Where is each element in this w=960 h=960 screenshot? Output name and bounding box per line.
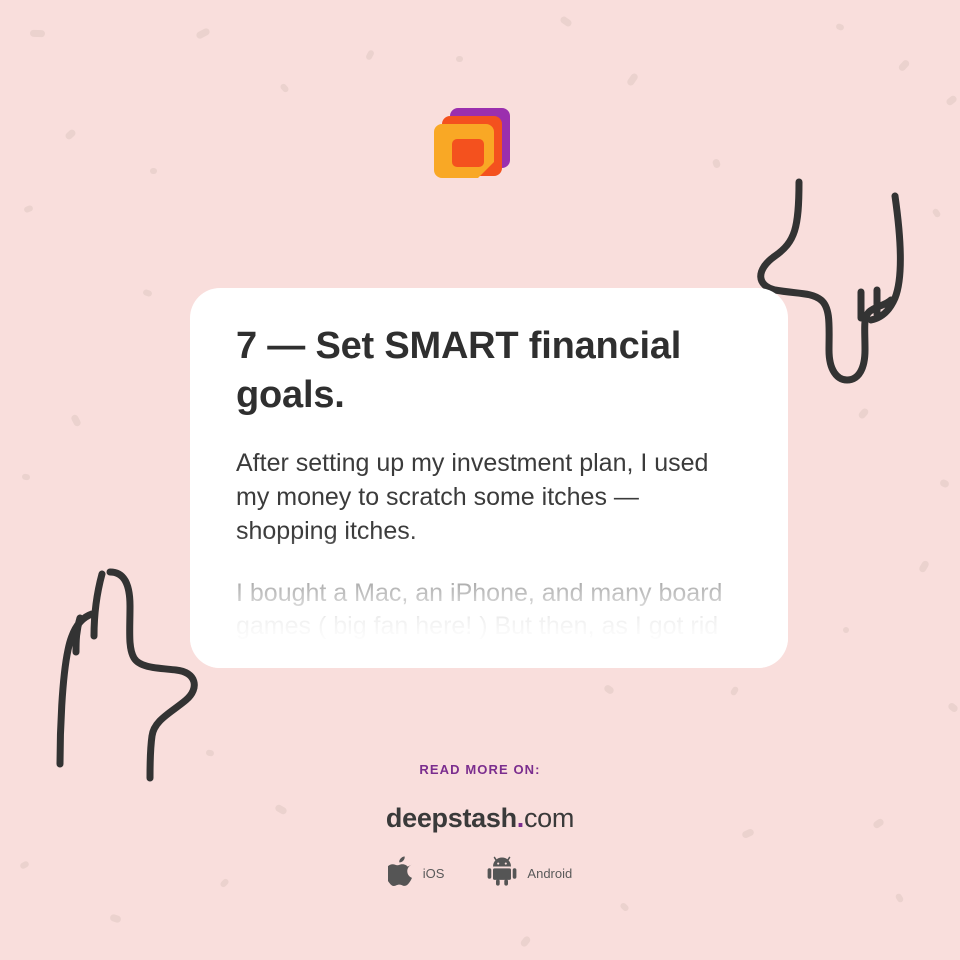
brand-dot: . bbox=[517, 803, 524, 833]
read-more-label: READ MORE ON: bbox=[0, 762, 960, 777]
store-label-ios: iOS bbox=[423, 866, 445, 881]
confetti-speck bbox=[70, 414, 82, 428]
brand-tld: com bbox=[524, 803, 574, 833]
confetti-speck bbox=[195, 27, 211, 40]
store-badge-ios[interactable]: iOS bbox=[388, 856, 445, 891]
confetti-speck bbox=[519, 935, 531, 948]
brand-wordmark[interactable]: deepstash.com bbox=[0, 803, 960, 834]
confetti-speck bbox=[64, 128, 77, 141]
confetti-speck bbox=[897, 59, 910, 73]
confetti-speck bbox=[712, 158, 722, 169]
confetti-speck bbox=[30, 30, 45, 38]
confetti-speck bbox=[150, 168, 157, 174]
content-card[interactable]: 7 — Set SMART financial goals. After set… bbox=[190, 288, 788, 668]
confetti-speck bbox=[730, 686, 740, 697]
confetti-speck bbox=[23, 205, 34, 214]
footer: READ MORE ON: deepstash.com iOS bbox=[0, 762, 960, 891]
poster-canvas: 7 — Set SMART financial goals. After set… bbox=[0, 0, 960, 960]
confetti-speck bbox=[895, 893, 905, 904]
confetti-speck bbox=[279, 83, 289, 94]
confetti-speck bbox=[142, 289, 152, 297]
confetti-speck bbox=[603, 684, 615, 696]
confetti-speck bbox=[109, 913, 122, 923]
apple-icon bbox=[388, 856, 414, 891]
confetti-speck bbox=[205, 749, 214, 757]
confetti-speck bbox=[619, 902, 630, 913]
confetti-speck bbox=[626, 72, 639, 87]
confetti-speck bbox=[835, 23, 845, 32]
store-badges: iOS And bbox=[0, 856, 960, 891]
card-content: 7 — Set SMART financial goals. After set… bbox=[190, 288, 788, 668]
confetti-speck bbox=[939, 478, 950, 488]
confetti-speck bbox=[931, 208, 941, 219]
card-title: 7 — Set SMART financial goals. bbox=[236, 322, 742, 419]
brand-name: deepstash bbox=[386, 803, 517, 833]
confetti-speck bbox=[918, 560, 930, 574]
android-icon bbox=[486, 856, 518, 891]
pointing-hand-up-icon bbox=[14, 552, 214, 789]
confetti-speck bbox=[456, 56, 463, 62]
confetti-speck bbox=[365, 49, 375, 61]
confetti-speck bbox=[857, 407, 869, 420]
confetti-speck bbox=[947, 702, 959, 714]
deepstash-logo bbox=[424, 98, 524, 198]
confetti-speck bbox=[945, 94, 958, 106]
store-label-android: Android bbox=[527, 866, 572, 881]
store-badge-android[interactable]: Android bbox=[486, 856, 572, 891]
confetti-speck bbox=[559, 15, 573, 28]
card-paragraph-2: I bought a Mac, an iPhone, and many boar… bbox=[236, 577, 742, 669]
card-paragraph-1: After setting up my investment plan, I u… bbox=[236, 447, 742, 548]
confetti-speck bbox=[843, 627, 849, 633]
confetti-speck bbox=[22, 473, 31, 480]
